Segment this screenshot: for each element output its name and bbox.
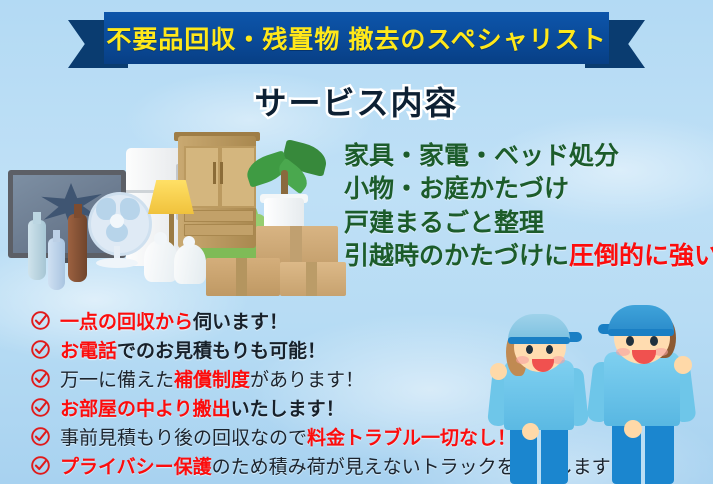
service-line: 戸建まるごと整理 — [344, 207, 710, 240]
eye — [650, 336, 658, 346]
cheek-blush — [516, 356, 529, 364]
feature-bullet-text: 万一に備えた補償制度があります！ — [60, 365, 364, 392]
feature-bullet-text: お部屋の中より搬出いたします！ — [60, 394, 345, 421]
feature-bullet-item: お電話でのお見積もりも可能！ — [30, 335, 510, 364]
trash-bag-icon — [144, 240, 178, 282]
feature-bullet-item: お部屋の中より搬出いたします！ — [30, 393, 510, 422]
bullet-text: 事前見積もり後の回収なので — [60, 428, 307, 449]
bullet-text: があります！ — [250, 370, 364, 391]
cap-band — [608, 329, 674, 336]
box-tape — [236, 258, 247, 296]
check-circle-icon — [30, 426, 51, 447]
advertisement-banner: 不要品回収・残置物 撤去のスペシャリスト サービス内容 — [0, 0, 713, 484]
service-list: 家具・家電・ベッド処分小物・お庭かたづけ戸建まるごと整理引越時のかたづけに圧倒的… — [344, 140, 710, 273]
bullet-text-accent: お部屋の中より搬出 — [60, 399, 231, 420]
feature-bullet-text: お電話でのお見積もりも可能！ — [60, 336, 326, 363]
bottle-neck — [33, 212, 41, 224]
feature-bullet-item: プライバシー保護のため積み荷が見えないトラックを使用します！ — [30, 451, 510, 480]
service-text-accent: 圧倒的に強い — [569, 242, 713, 270]
bullet-text-accent: 料金トラブル一切なし！ — [307, 428, 516, 449]
bullet-text-accent: プライバシー保護 — [60, 457, 212, 478]
bullet-text: 伺います！ — [193, 312, 288, 333]
glass-bottle-icon — [28, 220, 46, 280]
service-line: 小物・お庭かたづけ — [344, 173, 710, 206]
feature-bullet-item: 一点の回収から伺います！ — [30, 306, 510, 335]
cheek-blush — [654, 348, 668, 356]
service-text: 家具・家電・ベッド処分 — [344, 142, 619, 170]
feature-bullet-item: 万一に備えた補償制度があります！ — [30, 364, 510, 393]
furniture-illustration — [150, 122, 350, 296]
female-worker-hand — [522, 423, 539, 440]
bullet-text-accent: 一点の回収から — [60, 312, 193, 333]
check-circle-icon — [30, 368, 51, 389]
service-text: 小物・お庭かたづけ — [344, 175, 569, 203]
bullet-text: でのお見積もりも可能！ — [117, 341, 326, 362]
bottle-neck — [53, 230, 60, 242]
male-worker-hand — [674, 356, 692, 374]
cap-band — [508, 337, 570, 344]
feature-bullet-text: 事前見積もり後の回収なので料金トラブル一切なし！ — [60, 423, 516, 450]
trash-bag-tie — [154, 232, 167, 245]
glass-bottle-icon — [48, 238, 65, 290]
ribbon-body: 不要品回収・残置物 撤去のスペシャリスト — [104, 12, 609, 64]
service-text: 引越時のかたづけに — [344, 242, 569, 270]
feature-bullet-text: 一点の回収から伺います！ — [60, 307, 288, 334]
service-text: 戸建まるごと整理 — [344, 209, 544, 237]
eye — [626, 336, 634, 346]
bullet-text-accent: 補償制度 — [174, 370, 250, 391]
service-line: 家具・家電・ベッド処分 — [344, 140, 710, 173]
fan-base — [96, 258, 138, 268]
box-tape — [306, 262, 317, 296]
feature-bullet-list: 一点の回収から伺います！お電話でのお見積もりも可能！万一に備えた補償制度がありま… — [30, 306, 510, 480]
check-circle-icon — [30, 310, 51, 331]
ribbon-header: 不要品回収・残置物 撤去のスペシャリスト — [0, 12, 713, 68]
trash-bag-tie — [183, 236, 195, 248]
glass-bottle-icon — [68, 214, 87, 282]
ribbon-headline-text: 不要品回収・残置物 撤去のスペシャリスト — [106, 20, 606, 56]
check-circle-icon — [30, 339, 51, 360]
check-circle-icon — [30, 455, 51, 476]
male-worker-cap-icon — [608, 305, 674, 332]
bullet-text: 万一に備えた — [60, 370, 174, 391]
staff-illustration — [488, 298, 713, 484]
fan-hub — [110, 214, 124, 228]
wardrobe-drawer — [184, 224, 254, 236]
bullet-text: いたします！ — [231, 399, 345, 420]
service-line: 引越時のかたづけに圧倒的に強い — [344, 240, 710, 273]
wardrobe-handle — [213, 162, 216, 184]
wardrobe-drawer — [184, 210, 254, 222]
eye — [546, 345, 553, 354]
bottle-neck — [74, 204, 82, 218]
check-circle-icon — [30, 397, 51, 418]
trash-bag-icon — [174, 244, 206, 284]
cheek-blush — [616, 348, 630, 356]
page-title: サービス内容 — [0, 78, 713, 124]
bullet-text-accent: お電話 — [60, 341, 117, 362]
eye — [526, 345, 533, 354]
female-worker-hand — [490, 363, 507, 380]
wardrobe-handle — [220, 162, 223, 184]
feature-bullet-item: 事前見積もり後の回収なので料金トラブル一切なし！ — [30, 422, 510, 451]
male-worker-hand — [624, 420, 642, 438]
